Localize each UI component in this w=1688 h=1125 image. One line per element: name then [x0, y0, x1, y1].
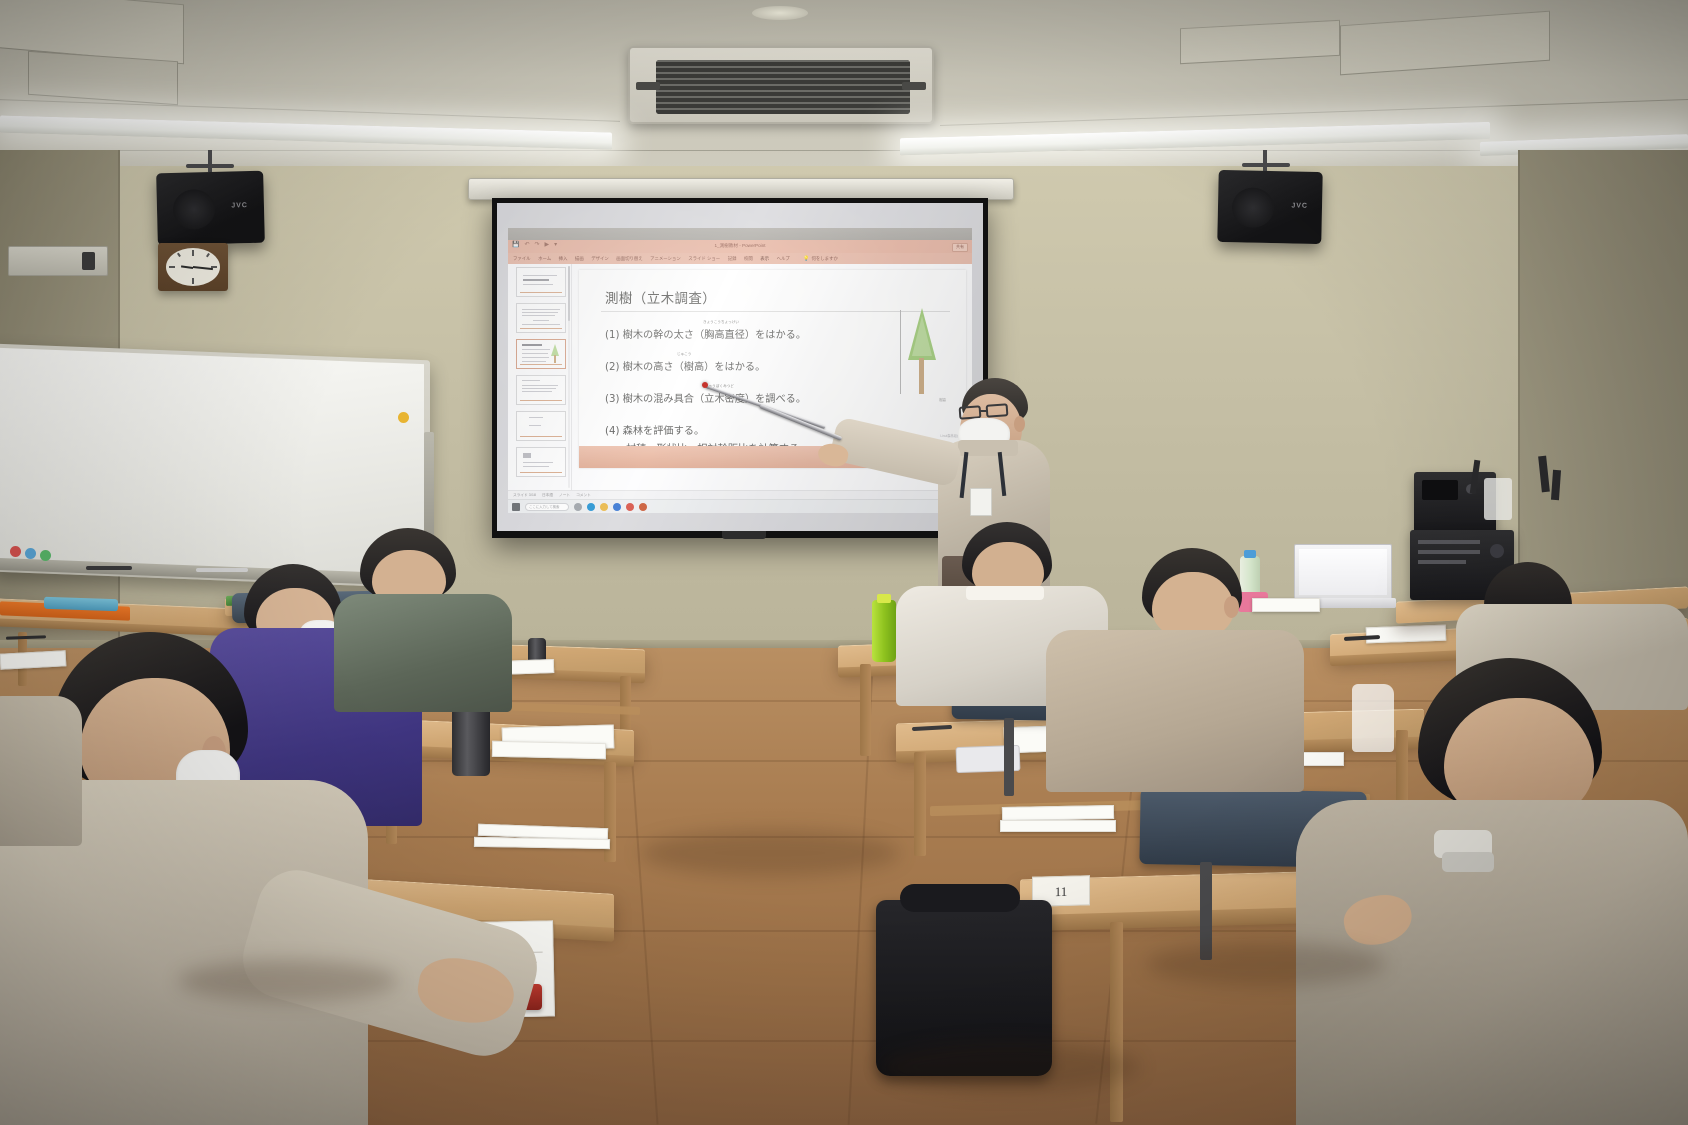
- undo-icon[interactable]: ↶: [524, 242, 529, 248]
- whiteboard-magnet[interactable]: [10, 546, 21, 557]
- slide-ruby-1: きょうこうちょっけい: [703, 320, 739, 325]
- speaker-mount: [1263, 150, 1267, 172]
- height-axis-line: [900, 310, 901, 394]
- speaker-brand-label: JVC: [231, 202, 248, 209]
- whiteboard-side-rail: [424, 432, 434, 538]
- tab-review[interactable]: 校閲: [744, 256, 753, 262]
- slide-bullet-2: (2) 樹木の高さ（樹高）をはかる。: [605, 358, 765, 373]
- slide-title: 測樹（立木調査）: [605, 287, 716, 307]
- tree-height-diagram: 樹高: [899, 308, 945, 396]
- slide-thumbnail-selected[interactable]: 3: [516, 339, 566, 369]
- slide-bullet-4: (4) 森林を評価する。: [605, 422, 704, 437]
- slide-thumbnail[interactable]: 1: [516, 267, 566, 297]
- ear: [1224, 596, 1239, 618]
- speaker-left: JVC: [156, 171, 265, 246]
- tree-figure-caption: 樹高: [939, 397, 946, 402]
- glasses-bridge: [980, 410, 987, 412]
- slide-bullet-3: (3) 樹木の混み具合（立木密度）を調べる。: [605, 390, 806, 405]
- ribbon-tab-bar[interactable]: ファイル ホーム 挿入 描画 デザイン 画面切り替え アニメーション スライド …: [508, 253, 972, 264]
- taskview-icon[interactable]: [574, 503, 582, 511]
- slide-thumbnail[interactable]: 6: [516, 447, 566, 477]
- speaker-brand-label: JVC: [1291, 202, 1308, 209]
- tab-slideshow[interactable]: スライド ショー: [688, 256, 720, 262]
- speaker-mount: [208, 150, 212, 172]
- quick-access-toolbar[interactable]: 💾 ↶ ↷ ▶ ▾ 1_測樹教材 - PowerPoint 共有: [508, 240, 972, 253]
- projected-screen[interactable]: 💾 ↶ ↷ ▶ ▾ 1_測樹教材 - PowerPoint 共有 ファイル ホー…: [497, 203, 983, 531]
- paper-sheet[interactable]: [1252, 598, 1320, 612]
- bottle-cap[interactable]: [877, 594, 891, 603]
- tab-transitions[interactable]: 画面切り替え: [616, 256, 642, 262]
- whiteboard-magnet[interactable]: [398, 412, 409, 423]
- projector-screen-weight-bar: [722, 530, 766, 539]
- ear: [1014, 416, 1025, 432]
- speaker-right: JVC: [1217, 170, 1322, 244]
- classroom-scene: JVC JVC: [0, 0, 1688, 1125]
- torso: [0, 696, 82, 846]
- backpack-handle: [900, 884, 1020, 912]
- shirt-collar: [966, 586, 1044, 600]
- comments-button[interactable]: コメント: [576, 493, 591, 498]
- ceiling-seam: [0, 150, 1688, 151]
- tab-home[interactable]: ホーム: [538, 256, 551, 262]
- save-icon[interactable]: 💾: [512, 242, 519, 248]
- tab-animations[interactable]: アニメーション: [650, 256, 681, 262]
- whiteboard-marker[interactable]: [86, 566, 132, 570]
- folder-icon[interactable]: [600, 503, 608, 511]
- tab-draw[interactable]: 描画: [575, 256, 584, 262]
- status-bar[interactable]: スライド 3/18 日本語 ノート コメント 表示設定 69%: [508, 490, 972, 499]
- whiteboard[interactable]: [0, 348, 424, 578]
- windows-taskbar[interactable]: ここに入力して検索 9:43 2022/05/18: [508, 499, 972, 513]
- torso: [1046, 630, 1304, 792]
- tab-file[interactable]: ファイル: [513, 256, 531, 262]
- tab-help[interactable]: ヘルプ: [777, 256, 790, 262]
- laptop-screen[interactable]: [1294, 544, 1392, 600]
- speaker-bracket: [1242, 163, 1290, 167]
- id-badge: [970, 488, 992, 516]
- tissue-box[interactable]: [1484, 478, 1512, 520]
- language-indicator[interactable]: 日本語: [542, 493, 553, 498]
- glasses-right-lens: [986, 403, 1009, 418]
- edge-icon[interactable]: [587, 503, 595, 511]
- windows-start-icon[interactable]: [512, 503, 520, 511]
- blue-case[interactable]: [44, 597, 118, 612]
- slide-indicator: スライド 3/18: [513, 493, 536, 498]
- bottle-cap[interactable]: [1244, 550, 1256, 558]
- whiteboard-magnet[interactable]: [25, 548, 36, 559]
- slide-thumbnail[interactable]: 2: [516, 303, 566, 333]
- wall-panel-button[interactable]: [82, 252, 95, 270]
- paper-sheet[interactable]: [1366, 625, 1447, 644]
- clock-face: [166, 248, 220, 286]
- slide-thumbnail[interactable]: 4: [516, 375, 566, 405]
- speaker-bracket: [186, 164, 234, 168]
- ceiling-air-conditioner: [628, 46, 934, 124]
- tell-me-box[interactable]: 💡 何をしますか: [803, 256, 838, 262]
- shoe: [1442, 852, 1494, 872]
- lightbulb-icon: 💡: [803, 256, 809, 262]
- projector-screen-case: [468, 178, 1014, 200]
- more-icon[interactable]: ▾: [554, 242, 557, 248]
- redo-icon[interactable]: ↷: [535, 242, 540, 248]
- torso: [334, 594, 512, 712]
- wall-clock: [158, 243, 228, 291]
- tree-crown-inner-icon: [912, 316, 932, 356]
- window-title-bar: [508, 228, 972, 240]
- slide-ruby-2: じゅこう: [677, 352, 691, 357]
- pointer-red-tip: [702, 382, 708, 388]
- chrome-icon[interactable]: [626, 503, 634, 511]
- slide-bullet-1: (1) 樹木の幹の太さ（胸高直径）をはかる。: [605, 326, 806, 341]
- clock-minute-hand: [193, 266, 213, 270]
- tree-trunk-icon: [919, 358, 924, 394]
- hvac-grille: [656, 60, 910, 114]
- sports-drink-bottle[interactable]: [872, 600, 896, 662]
- whiteboard-eraser[interactable]: [196, 568, 248, 572]
- start-presentation-icon[interactable]: ▶: [545, 242, 550, 248]
- share-button[interactable]: 共有: [952, 243, 968, 252]
- plastic-bag[interactable]: [1352, 684, 1394, 752]
- slide-thumbnail[interactable]: 5: [516, 411, 566, 441]
- hvac-vent: [636, 82, 660, 90]
- paper-stack: [1000, 820, 1116, 832]
- slide-thumbnail-pane[interactable]: 1 2: [508, 264, 572, 490]
- tab-insert[interactable]: 挿入: [559, 256, 568, 262]
- paper-stack: [1002, 805, 1114, 821]
- notes-button[interactable]: ノート: [559, 493, 570, 498]
- mail-icon[interactable]: [613, 503, 621, 511]
- search-input[interactable]: ここに入力して検索: [525, 503, 569, 511]
- powerpoint-icon[interactable]: [639, 503, 647, 511]
- tab-record[interactable]: 記録: [728, 256, 737, 262]
- tab-design[interactable]: デザイン: [591, 256, 609, 262]
- ceiling-speaker-grille: [752, 6, 808, 20]
- slide-title-rule: [601, 311, 950, 312]
- tell-me-label: 何をしますか: [812, 256, 838, 262]
- thumbnail-scrollbar-thumb[interactable]: [568, 266, 570, 321]
- whiteboard-magnet[interactable]: [40, 550, 51, 561]
- tab-view[interactable]: 表示: [760, 256, 769, 262]
- hvac-vent: [902, 82, 926, 90]
- clock-hour-hand: [181, 265, 193, 269]
- paper-sheet[interactable]: [492, 741, 606, 759]
- document-title: 1_測樹教材 - PowerPoint: [714, 243, 765, 249]
